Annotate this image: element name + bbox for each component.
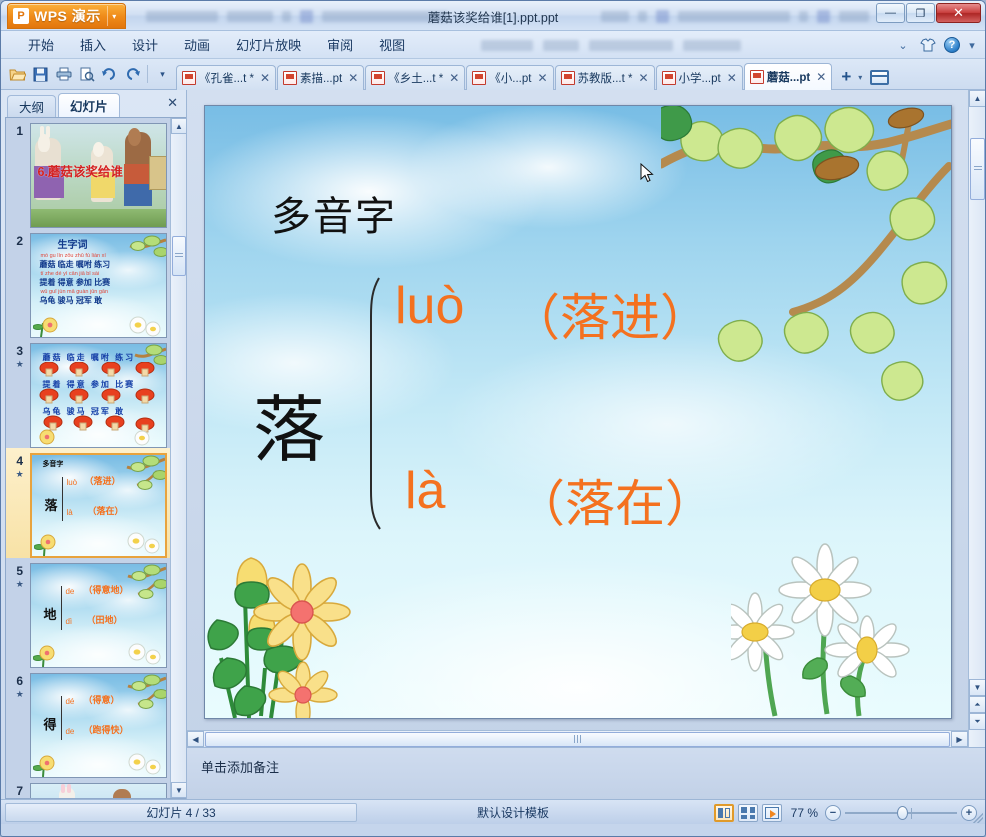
- slide-canvas-area[interactable]: 多音字 落 luò （落进） là （落在） ▲ ▼: [187, 90, 985, 747]
- toolbar-divider: [147, 65, 148, 83]
- menu-item-insert[interactable]: 插入: [67, 32, 119, 57]
- menubar-ghost-region: [481, 31, 741, 59]
- thumbnail-row-5[interactable]: 5 ★: [6, 558, 170, 668]
- notes-pane[interactable]: 单击添加备注: [187, 747, 985, 799]
- background-window-ghosts-right: [601, 1, 869, 31]
- close-icon[interactable]: ✕: [727, 71, 737, 85]
- pinyin-1[interactable]: luò: [395, 276, 464, 336]
- ghost-label: [543, 40, 579, 51]
- close-icon[interactable]: ✕: [260, 71, 270, 85]
- slide-vertical-scrollbar[interactable]: ▲ ▼ ⏶ ⏷: [968, 90, 985, 747]
- ghost-label: [683, 40, 741, 51]
- doc-tab-label: 《孔雀...t *: [199, 70, 254, 86]
- thumbnail-title-text: 6.蘑菇该奖给谁: [37, 166, 122, 179]
- thumbnail-number: 4 ★: [9, 453, 30, 479]
- open-documents-tabs: 《孔雀...t * ✕ 素描...pt ✕ 《乡土...t * ✕ 《小...p…: [176, 59, 891, 90]
- presentation-file-icon: [371, 71, 385, 85]
- animation-star-icon: ★: [9, 579, 30, 589]
- mouse-cursor: [640, 163, 654, 183]
- wps-app-label: WPS 演示: [34, 6, 101, 26]
- ghost-icon: [656, 10, 669, 23]
- thumbnail-character: 地: [43, 608, 56, 621]
- doc-tab-label: 《乡土...t *: [388, 70, 443, 86]
- menu-bar: 开始 插入 设计 动画 幻灯片放映 审阅 视图 ⌄ ? ▾: [1, 31, 985, 59]
- scroll-left-icon[interactable]: ◀: [187, 731, 204, 747]
- new-document-group: + ▾: [836, 65, 891, 90]
- scrollbar-thumb[interactable]: [205, 732, 950, 747]
- redo-icon[interactable]: [121, 63, 144, 86]
- close-icon[interactable]: ✕: [348, 71, 358, 85]
- thumbnail-pinyin: là: [66, 509, 72, 517]
- word-2[interactable]: （落在）: [515, 464, 715, 536]
- word-1[interactable]: （落进）: [510, 278, 710, 350]
- ghost-label: [839, 11, 869, 22]
- scroll-right-icon[interactable]: ▶: [951, 731, 968, 747]
- doc-tab-0[interactable]: 《孔雀...t * ✕: [176, 65, 276, 90]
- thumbnail-1[interactable]: 6.蘑菇该奖给谁: [30, 123, 167, 228]
- close-icon[interactable]: ✕: [638, 71, 648, 85]
- thumbnail-4[interactable]: 多音字 落 luò （落进） là （落在）: [30, 453, 167, 558]
- animation-star-icon: ★: [9, 359, 30, 369]
- animation-star-icon: ★: [9, 689, 30, 699]
- thumbnail-pinyin: wū guī jùn mǎ guàn jūn gǎn: [40, 290, 108, 296]
- yellow-flowers-decoration: [205, 538, 395, 718]
- oak-branch-decoration: [661, 106, 951, 406]
- scroll-down-icon[interactable]: ▼: [969, 679, 985, 696]
- thumbnail-pinyin: dì: [65, 618, 72, 626]
- close-icon[interactable]: ✕: [537, 71, 547, 85]
- close-panel-icon[interactable]: ✕: [167, 95, 178, 111]
- menu-item-view[interactable]: 视图: [366, 32, 418, 57]
- animation-star-icon: ★: [9, 469, 30, 479]
- zoom-percent: 77 %: [791, 806, 818, 820]
- scroll-down-icon[interactable]: ▼: [171, 782, 186, 798]
- thumbnail-pinyin: mó gu lín zǒu zhǔ fù liàn xí: [40, 254, 105, 260]
- design-template-label[interactable]: 默认设计模板: [477, 804, 549, 821]
- thumbnail-words: 乌龟 骏马 冠军 敢: [39, 297, 102, 305]
- window-list-icon[interactable]: [870, 70, 889, 85]
- slideshow-icon[interactable]: [762, 804, 782, 822]
- close-icon[interactable]: ✕: [816, 70, 826, 84]
- help-icon[interactable]: ?: [944, 37, 960, 53]
- daisy-white-left: [731, 593, 794, 671]
- presentation-file-icon: [662, 71, 676, 85]
- chevron-down-icon[interactable]: ▾: [107, 6, 121, 26]
- thumbnail-number: 3 ★: [9, 343, 30, 369]
- doc-tab-2[interactable]: 《乡土...t * ✕: [365, 65, 465, 90]
- ghost-label: [799, 11, 808, 22]
- thumbnail-row-6[interactable]: 6 ★: [6, 668, 170, 778]
- presentation-file-icon: [283, 71, 297, 85]
- normal-view-icon[interactable]: [714, 804, 734, 822]
- doc-tab-label: 蘑菇...pt: [767, 69, 810, 85]
- minimize-button[interactable]: —: [876, 3, 905, 23]
- thumbnail-words: 蘑菇 临走 嘱咐 练习: [42, 354, 135, 362]
- ghost-label: [282, 11, 291, 22]
- ghost-label: [227, 11, 273, 22]
- thumbnail-number: 5 ★: [9, 563, 30, 589]
- presentation-file-icon: [182, 71, 196, 85]
- thumbnail-pinyin: de: [65, 588, 74, 596]
- doc-tab-1[interactable]: 素描...pt ✕: [277, 65, 364, 90]
- presentation-file-icon: [750, 70, 764, 84]
- doc-tab-label: 《小...pt: [489, 70, 531, 86]
- menubar-right-icons: ⌄ ? ▾: [894, 31, 977, 59]
- ghost-label: [601, 11, 629, 22]
- title-bar: P WPS 演示 ▾ 蘑菇该奖给谁[1].ppt.ppt — ❐ ✕: [1, 1, 985, 31]
- next-slide-button[interactable]: ⏷: [969, 713, 985, 730]
- thumbnail-character: 落: [44, 499, 57, 512]
- scrollbar-thumb[interactable]: [970, 138, 985, 200]
- ghost-icon: [817, 10, 830, 23]
- thumbnail-words: 提着 得意 参加 比赛: [39, 279, 110, 287]
- resize-grip-icon[interactable]: [973, 813, 983, 823]
- undo-icon[interactable]: [98, 63, 121, 86]
- thumbnail-pinyin: dé: [65, 698, 74, 706]
- doc-tab-6-active[interactable]: 蘑菇...pt ✕: [744, 63, 833, 90]
- zoom-slider-tick: [911, 808, 912, 819]
- thumbnail-pinyin: de: [65, 728, 74, 736]
- wps-presentation-window: P WPS 演示 ▾ 蘑菇该奖给谁[1].ppt.ppt — ❐ ✕: [0, 0, 986, 837]
- chevron-down-icon[interactable]: ⌄: [894, 36, 912, 54]
- panel-tabs: 大纲 幻灯片 ✕: [1, 90, 186, 117]
- print-preview-icon[interactable]: [75, 63, 98, 86]
- previous-slide-button[interactable]: ⏶: [969, 696, 985, 713]
- thumbnail-6[interactable]: 得 dé （得意） de （跑得快）: [30, 673, 167, 778]
- thumbnail-pinyin: tí zhe dé yì cān jiā bǐ sài: [40, 272, 99, 278]
- background-window-ghosts: [146, 1, 448, 31]
- scroll-up-icon[interactable]: ▲: [969, 90, 985, 107]
- thumbnail-row-2[interactable]: 2 生字词 mó gu lín zǒu zhǔ fù liàn xí: [6, 228, 170, 338]
- thumbnail-word: （落进）: [84, 477, 120, 486]
- scrollbar-thumb[interactable]: [172, 236, 186, 276]
- white-daisies-decoration: [731, 538, 951, 718]
- wps-app-badge[interactable]: P WPS 演示 ▾: [7, 3, 126, 29]
- thumbnail-words: 蘑菇 临走 嘱咐 练习: [39, 261, 110, 269]
- thumbnail-heading: 多音字: [42, 461, 63, 468]
- daisy-white-bottom: [825, 616, 909, 681]
- notes-placeholder[interactable]: 单击添加备注: [201, 757, 985, 776]
- thumbnail-7[interactable]: [30, 783, 167, 798]
- slide-main-character[interactable]: 落: [253, 371, 325, 476]
- thumbnail-heading: 生字词: [57, 241, 87, 251]
- slide-thumbnails-list: 1: [5, 117, 186, 799]
- slide-horizontal-scrollbar[interactable]: ◀ ▶: [187, 730, 968, 747]
- thumbnail-row-3[interactable]: 3 ★ 蘑菇 临走 嘱咐 练习 提着 得意 参加 比赛: [6, 338, 170, 448]
- skin-icon[interactable]: [919, 36, 937, 54]
- ghost-label: [146, 11, 218, 22]
- slides-panel: 大纲 幻灯片 ✕ 1: [1, 90, 187, 799]
- pinyin-2[interactable]: là: [405, 461, 445, 521]
- add-tab-caret-icon[interactable]: ▾: [854, 73, 866, 82]
- doc-tab-4[interactable]: 苏教版...t * ✕: [555, 65, 655, 90]
- menu-item-review[interactable]: 审阅: [314, 32, 366, 57]
- thumbnail-number: 2: [9, 233, 30, 249]
- print-icon[interactable]: [52, 63, 75, 86]
- dropdown-caret-icon[interactable]: ▾: [967, 36, 977, 54]
- thumbnail-number: 1: [9, 123, 30, 139]
- save-icon[interactable]: [29, 63, 52, 86]
- close-icon[interactable]: ✕: [449, 71, 459, 85]
- window-controls: — ❐ ✕: [876, 3, 981, 23]
- customize-caret-icon[interactable]: ▾: [151, 63, 174, 86]
- menu-item-start[interactable]: 开始: [15, 32, 67, 57]
- thumbnail-word: （田地）: [86, 616, 122, 625]
- doc-tab-5[interactable]: 小学...pt ✕: [656, 65, 743, 90]
- thumbnail-row-4-selected[interactable]: 4 ★: [6, 448, 170, 558]
- menu-item-animation[interactable]: 动画: [171, 32, 223, 57]
- thumbnail-5[interactable]: 地 de （得意地） dì （田地）: [30, 563, 167, 668]
- slide-indicator: 幻灯片 4 / 33: [5, 803, 357, 822]
- status-bar: 幻灯片 4 / 33 默认设计模板 77 % − +: [1, 799, 985, 824]
- thumbnail-word: （跑得快）: [83, 726, 128, 735]
- thumbnail-3[interactable]: 蘑菇 临走 嘱咐 练习 提着 得意 参加 比赛 乌龟 骏马 冠军 敢: [30, 343, 167, 448]
- menu-item-slideshow[interactable]: 幻灯片放映: [223, 32, 314, 57]
- tab-outline[interactable]: 大纲: [7, 95, 56, 117]
- thumbnail-row-1[interactable]: 1: [6, 118, 170, 228]
- thumbnails-scroll-region[interactable]: 1: [6, 118, 170, 798]
- doc-tab-3[interactable]: 《小...pt ✕: [466, 65, 553, 90]
- thumbnail-pinyin: luò: [66, 479, 77, 487]
- slide-heading[interactable]: 多音字: [271, 184, 397, 242]
- presentation-file-icon: [561, 71, 575, 85]
- doc-tab-label: 小学...pt: [679, 70, 721, 86]
- doc-tab-label: 苏教版...t *: [578, 70, 633, 86]
- thumbnail-character: 得: [43, 718, 56, 731]
- thumbnail-number: 7: [9, 783, 30, 798]
- thumbnail-2[interactable]: 生字词 mó gu lín zǒu zhǔ fù liàn xí 蘑菇 临走 嘱…: [30, 233, 167, 338]
- ghost-label: [638, 11, 647, 22]
- scroll-up-icon[interactable]: ▲: [171, 118, 186, 134]
- thumbnail-word: （得意地）: [83, 586, 128, 595]
- current-slide[interactable]: 多音字 落 luò （落进） là （落在）: [204, 105, 952, 719]
- zoom-slider-handle[interactable]: [897, 806, 908, 820]
- ghost-label: [678, 11, 790, 22]
- thumbnail-word: （得意）: [83, 696, 119, 705]
- add-tab-icon[interactable]: +: [838, 67, 854, 87]
- restore-button[interactable]: ❐: [906, 3, 935, 23]
- ghost-label: [589, 40, 673, 51]
- menu-item-design[interactable]: 设计: [119, 32, 171, 57]
- thumbnails-scrollbar[interactable]: ▲ ▼: [170, 118, 186, 798]
- close-button[interactable]: ✕: [936, 3, 981, 23]
- daisy-white-top: [779, 544, 871, 636]
- presentation-file-icon: [472, 71, 486, 85]
- thumbnail-row-7[interactable]: 7: [6, 778, 170, 798]
- open-icon[interactable]: [6, 63, 29, 86]
- zoom-out-button[interactable]: −: [825, 805, 841, 821]
- tab-slides[interactable]: 幻灯片: [58, 93, 120, 117]
- ghost-label: [322, 11, 448, 22]
- thumbnail-number: 6 ★: [9, 673, 30, 699]
- wps-logo-icon: P: [13, 8, 29, 24]
- ghost-label: [481, 40, 533, 51]
- slide-editor: 多音字 落 luò （落进） là （落在） ▲ ▼: [187, 90, 985, 799]
- thumbnail-word: （落在）: [87, 507, 123, 516]
- zoom-slider[interactable]: [845, 805, 957, 821]
- flower-bud: [235, 558, 269, 608]
- document-tab-bar: ▾ 《孔雀...t * ✕ 素描...pt ✕ 《乡土...t * ✕ 《小..…: [1, 59, 985, 90]
- status-right-controls: 77 % − +: [714, 800, 977, 825]
- slide-sorter-icon[interactable]: [738, 804, 758, 822]
- brace-bracket-icon: [368, 276, 382, 531]
- doc-tab-label: 素描...pt: [300, 70, 342, 86]
- workspace: 大纲 幻灯片 ✕ 1: [1, 90, 985, 799]
- ghost-icon: [300, 10, 313, 23]
